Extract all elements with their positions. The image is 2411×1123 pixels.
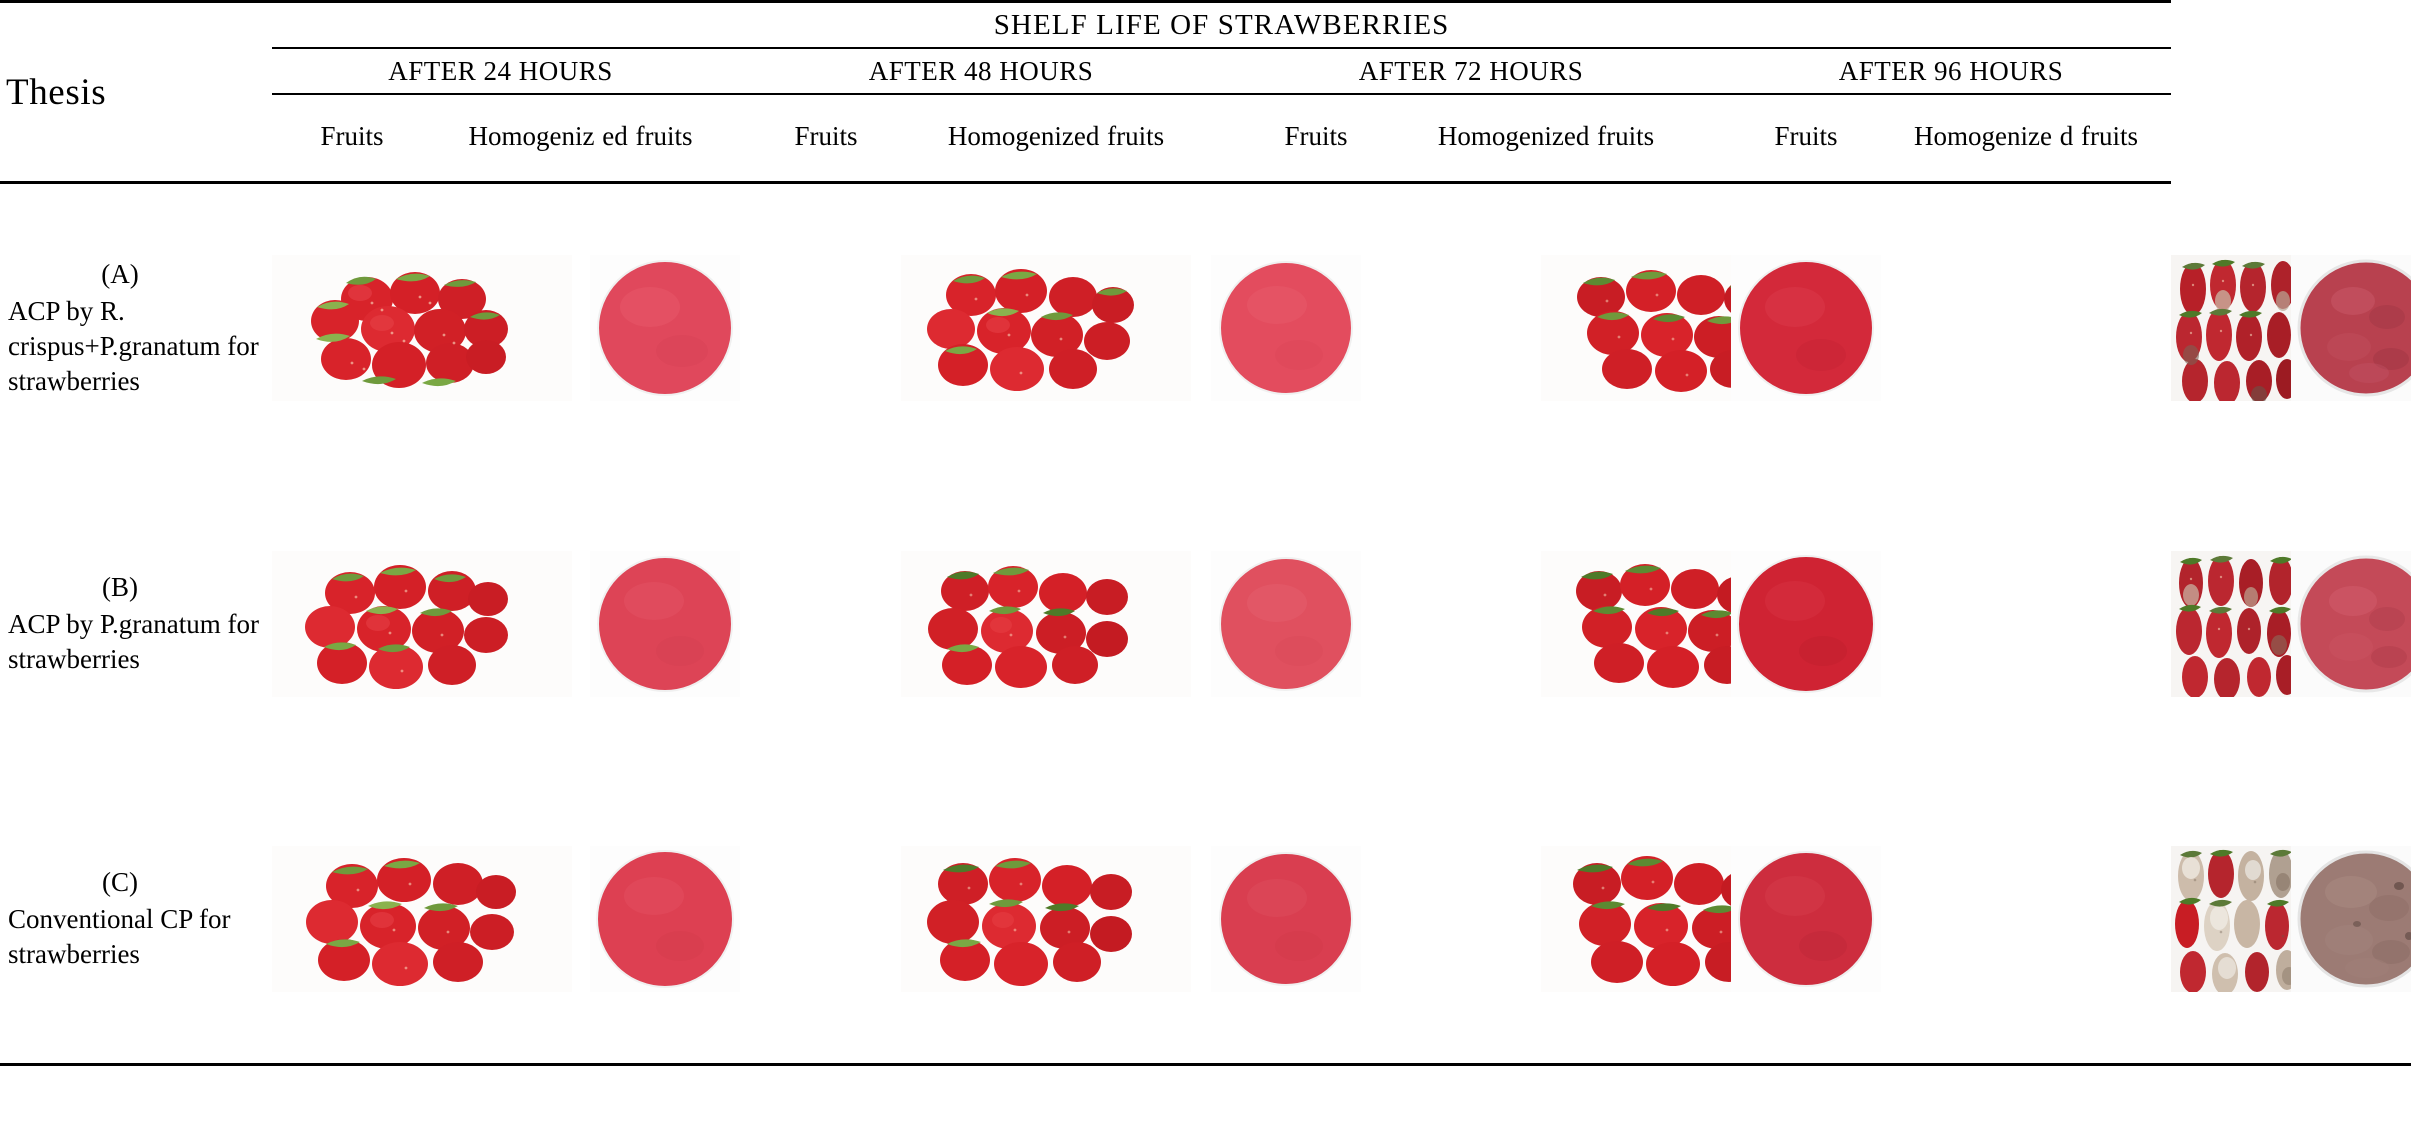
row-tag-a: (A) [8,257,266,292]
table-row-a: (A) ACP by R. crispus+P.granatum for str… [0,183,2411,473]
cell-c-96h-fruits [2171,775,2291,1065]
header-row-time-columns: AFTER 24 HOURS AFTER 48 HOURS AFTER 72 H… [0,48,2411,94]
cell-a-96h-fruits [2171,183,2291,473]
cell-a-24h-fruits [272,183,590,473]
subheader-48h-homogenized: Homogenized fruits [901,94,1211,183]
cell-b-24h-homogenized [590,479,751,769]
image-puree-b-48h [1211,551,1391,697]
subheader-gap-3 [1701,94,1731,183]
subheader-72h-fruits: Fruits [1241,94,1391,183]
subheader-gap-2 [1211,94,1241,183]
cell-c-48h-fruits [901,775,1211,1065]
column-header-after-72-hours: AFTER 72 HOURS [1241,48,1701,94]
column-header-after-96-hours: AFTER 96 HOURS [1731,48,2171,94]
row-b-gap-3 [2021,479,2171,769]
row-c-gap-1 [751,775,901,1065]
cell-b-72h-fruits [1541,479,1731,769]
subheader-96h-homogenized: Homogenize d fruits [1881,94,2171,183]
image-puree-b-24h [590,551,751,697]
cell-b-48h-homogenized [1211,479,1391,769]
row-description-a: ACP by R. crispus+P.granatum for strawbe… [8,294,266,399]
cell-b-72h-homogenized [1731,479,2021,769]
image-strawberries-b-72h [1541,551,1731,697]
image-strawberries-b-96h [2171,551,2291,697]
header-gap-1 [729,48,751,94]
row-tag-c: (C) [8,865,266,900]
cell-c-72h-homogenized [1731,775,2021,1065]
cell-b-24h-fruits [272,479,590,769]
image-puree-c-96h-browned [2291,846,2411,992]
image-puree-a-48h [1211,255,1391,401]
corner-label-thesis: Thesis [0,2,272,183]
cell-b-96h-fruits [2171,479,2291,769]
row-c-gap-2 [1391,775,1541,1065]
image-puree-c-48h [1211,846,1391,992]
image-puree-a-96h [2291,255,2411,401]
image-puree-a-72h [1731,255,2021,401]
row-c-gap-3 [2021,775,2171,1065]
image-puree-a-24h [590,255,751,401]
subheader-24h-fruits: Fruits [272,94,432,183]
cell-a-96h-homogenized [2291,183,2411,473]
image-strawberries-b-24h [272,551,590,697]
image-puree-c-24h [590,846,751,992]
row-a-gap-3 [2021,183,2171,473]
table-row-b: (B) ACP by P.granatum for strawberries [0,479,2411,769]
image-strawberries-c-24h [272,846,590,992]
cell-c-72h-fruits [1541,775,1731,1065]
cell-a-48h-homogenized [1211,183,1391,473]
image-strawberries-a-72h [1541,255,1731,401]
image-strawberries-b-48h [901,551,1211,697]
image-puree-b-72h [1731,551,2021,697]
image-strawberries-c-96h-molded [2171,846,2291,992]
row-b-gap-2 [1391,479,1541,769]
cell-b-96h-homogenized [2291,479,2411,769]
subheader-72h-homogenized: Homogenized fruits [1391,94,1701,183]
column-header-after-24-hours: AFTER 24 HOURS [272,48,729,94]
row-label-c: (C) Conventional CP for strawberries [0,775,272,1065]
shelf-life-table: Thesis SHELF LIFE OF STRAWBERRIES AFTER … [0,0,2411,1066]
image-puree-b-96h [2291,551,2411,697]
image-strawberries-c-72h [1541,846,1731,992]
image-strawberries-c-48h [901,846,1211,992]
header-gap-2 [1211,48,1241,94]
cell-c-48h-homogenized [1211,775,1391,1065]
header-gap-3 [1701,48,1731,94]
row-label-a: (A) ACP by R. crispus+P.granatum for str… [0,183,272,473]
row-b-gap-1 [751,479,901,769]
column-header-after-48-hours: AFTER 48 HOURS [751,48,1211,94]
row-a-gap-1 [751,183,901,473]
row-a-gap-2 [1391,183,1541,473]
figure-sheet: Thesis SHELF LIFE OF STRAWBERRIES AFTER … [0,0,2411,1123]
cell-a-48h-fruits [901,183,1211,473]
subheader-48h-fruits: Fruits [751,94,901,183]
subheader-24h-homogenized: Homogeniz ed fruits [432,94,729,183]
header-row-group-title: Thesis SHELF LIFE OF STRAWBERRIES [0,2,2411,49]
image-strawberries-a-48h [901,255,1211,401]
image-puree-c-72h [1731,846,2021,992]
cell-a-72h-homogenized [1731,183,2021,473]
cell-a-72h-fruits [1541,183,1731,473]
subheader-96h-fruits: Fruits [1731,94,1881,183]
table-row-c: (C) Conventional CP for strawberries [0,775,2411,1065]
header-row-sub-columns: Fruits Homogeniz ed fruits Fruits Homoge… [0,94,2411,183]
row-label-b: (B) ACP by P.granatum for strawberries [0,479,272,769]
image-strawberries-a-24h [272,255,590,401]
image-strawberries-a-96h [2171,255,2291,401]
cell-c-24h-homogenized [590,775,751,1065]
cell-c-24h-fruits [272,775,590,1065]
row-tag-b: (B) [8,570,266,605]
cell-c-96h-homogenized [2291,775,2411,1065]
row-description-c: Conventional CP for strawberries [8,902,266,972]
cell-b-48h-fruits [901,479,1211,769]
subheader-gap-1 [729,94,751,183]
row-description-b: ACP by P.granatum for strawberries [8,607,266,677]
cell-a-24h-homogenized [590,183,751,473]
group-title-shelf-life: SHELF LIFE OF STRAWBERRIES [272,2,2171,49]
